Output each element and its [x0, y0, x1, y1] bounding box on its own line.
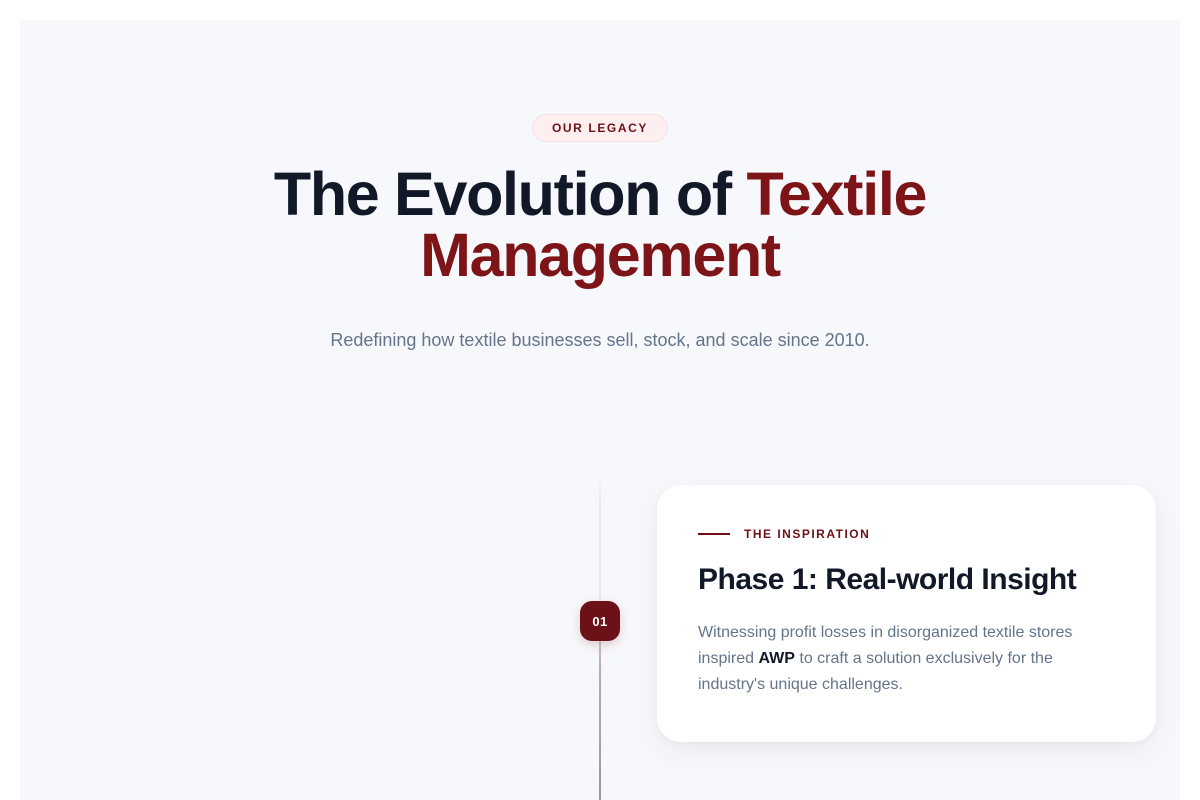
card-title: Phase 1: Real-world Insight	[698, 562, 1115, 598]
card-kicker: THE INSPIRATION	[698, 527, 1115, 541]
card-kicker-label: THE INSPIRATION	[744, 527, 870, 541]
page-root: OUR LEGACY The Evolution of Textile Mana…	[0, 0, 1200, 800]
page-title: The Evolution of Textile Management	[205, 164, 995, 286]
card-body-emphasis: AWP	[758, 650, 794, 667]
hero-header: OUR LEGACY The Evolution of Textile Mana…	[20, 20, 1180, 354]
timeline: 01 THE INSPIRATION Phase 1: Real-world I…	[20, 472, 1180, 800]
hero-subtitle: Redefining how textile businesses sell, …	[20, 326, 1180, 354]
timeline-node-marker: 01	[580, 601, 620, 641]
phase-card[interactable]: THE INSPIRATION Phase 1: Real-world Insi…	[657, 485, 1156, 742]
card-body: Witnessing profit losses in disorganized…	[698, 620, 1115, 698]
timeline-node-number: 01	[592, 614, 607, 629]
timeline-entry-01: 01 THE INSPIRATION Phase 1: Real-world I…	[20, 472, 1180, 800]
horizontal-rule-icon	[698, 533, 730, 535]
eyebrow-badge-label: OUR LEGACY	[552, 121, 648, 135]
page-title-lead: The Evolution of	[274, 160, 747, 228]
legacy-section: OUR LEGACY The Evolution of Textile Mana…	[20, 20, 1180, 800]
status-badge: OUR LEGACY	[532, 114, 668, 142]
